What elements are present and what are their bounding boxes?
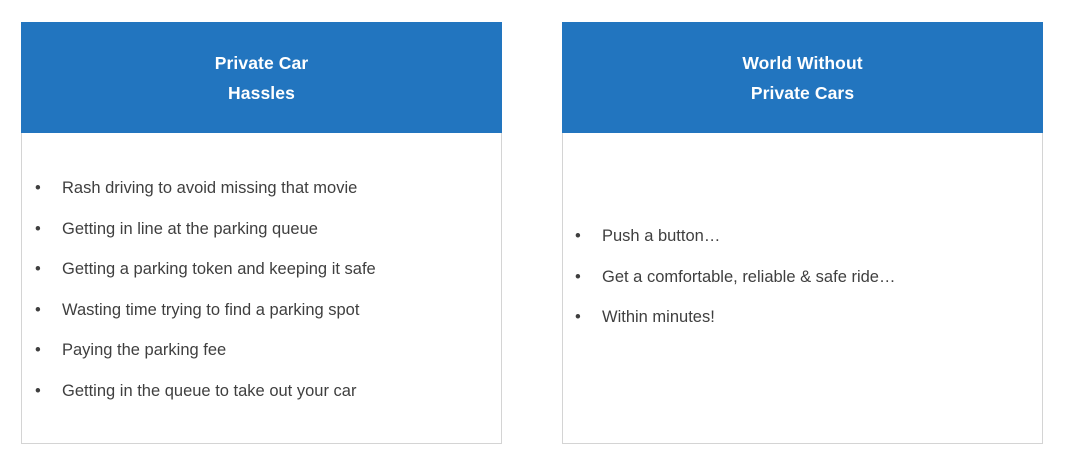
panel-title-line-2: Hassles [215,78,309,108]
bullet-point-icon: • [35,258,62,280]
bullet-point-icon: • [35,339,62,361]
panel-header-private-car-hassles: Private Car Hassles [21,22,502,133]
list-item-label: Paying the parking fee [62,339,501,361]
panel-private-car-hassles: Private Car Hassles • Rash driving to av… [21,22,502,444]
list-item-label: Push a button… [602,225,1042,247]
list-item-label: Getting in line at the parking queue [62,218,501,240]
list-item-label: Get a comfortable, reliable & safe ride… [602,266,1042,288]
list-item: • Getting a parking token and keeping it… [22,258,501,299]
list-item-label: Wasting time trying to find a parking sp… [62,299,501,321]
bullet-point-icon: • [575,306,602,328]
bullet-list-world-without-private-cars: • Push a button… • Get a comfortable, re… [563,225,1042,347]
bullet-point-icon: • [35,218,62,240]
list-item: • Within minutes! [563,306,1042,347]
bullet-point-icon: • [35,177,62,199]
panel-title-world-without-private-cars: World Without Private Cars [742,48,862,108]
bullet-point-icon: • [575,266,602,288]
panel-header-world-without-private-cars: World Without Private Cars [562,22,1043,133]
panel-title-private-car-hassles: Private Car Hassles [215,48,309,108]
list-item-label: Getting in the queue to take out your ca… [62,380,501,402]
panel-title-line-2: Private Cars [742,78,862,108]
list-item-label: Getting a parking token and keeping it s… [62,258,501,280]
list-item: • Push a button… [563,225,1042,266]
panel-world-without-private-cars: World Without Private Cars • Push a butt… [562,22,1043,444]
list-item-label: Rash driving to avoid missing that movie [62,177,501,199]
bullet-point-icon: • [575,225,602,247]
panel-body-private-car-hassles: • Rash driving to avoid missing that mov… [22,133,501,443]
comparison-slide: Private Car Hassles • Rash driving to av… [0,0,1066,475]
bullet-list-private-car-hassles: • Rash driving to avoid missing that mov… [22,177,501,421]
panel-title-line-1: World Without [742,48,862,78]
bullet-point-icon: • [35,299,62,321]
list-item: • Getting in the queue to take out your … [22,380,501,421]
list-item: • Getting in line at the parking queue [22,218,501,259]
list-item-label: Within minutes! [602,306,1042,328]
bullet-point-icon: • [35,380,62,402]
list-item: • Wasting time trying to find a parking … [22,299,501,340]
list-item: • Get a comfortable, reliable & safe rid… [563,266,1042,307]
list-item: • Rash driving to avoid missing that mov… [22,177,501,218]
panel-body-world-without-private-cars: • Push a button… • Get a comfortable, re… [563,133,1042,443]
list-item: • Paying the parking fee [22,339,501,380]
panel-title-line-1: Private Car [215,48,309,78]
